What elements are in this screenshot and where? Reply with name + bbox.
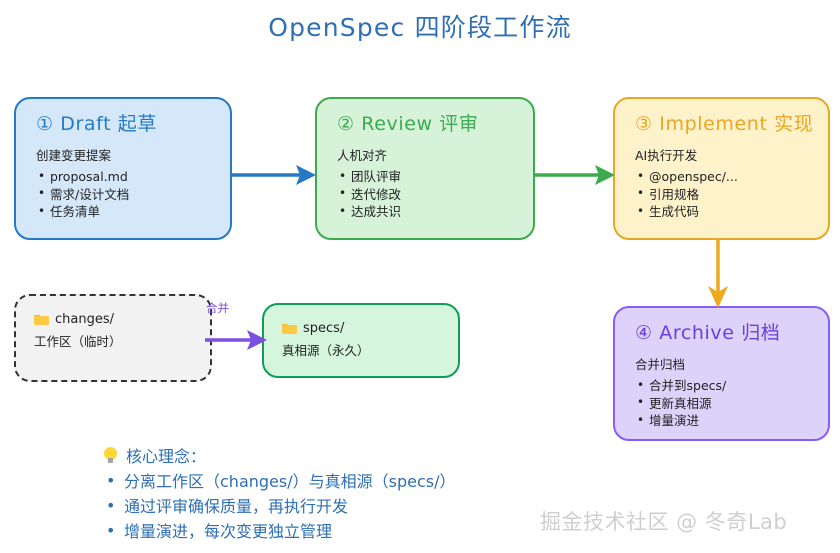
specs-folder-line: specs/ bbox=[282, 321, 458, 336]
list-item: 增量演进 bbox=[635, 412, 828, 430]
list-item: 团队评审 bbox=[337, 168, 533, 186]
list-item: 引用规格 bbox=[635, 186, 828, 204]
folder-icon bbox=[34, 313, 49, 324]
specs-folder-name: specs/ bbox=[303, 321, 344, 336]
folder-box-specs: specs/ 真相源（永久） bbox=[262, 303, 460, 378]
stage-box-draft: ① Draft 起草 创建变更提案 proposal.md 需求/设计文档 任务… bbox=[14, 97, 232, 240]
list-item: 达成共识 bbox=[337, 203, 533, 221]
core-principles-heading: 核心理念： bbox=[104, 443, 624, 467]
stage-box-implement: ③ Implement 实现 AI执行开发 @openspec/... 引用规格… bbox=[613, 97, 830, 240]
arrow-draft-to-review bbox=[232, 160, 316, 190]
arrow-implement-to-archive bbox=[695, 238, 741, 308]
stage-subtitle-archive: 合并归档 bbox=[635, 354, 828, 373]
stage-heading-review: ② Review 评审 bbox=[337, 109, 533, 136]
arrow-changes-to-specs bbox=[205, 325, 267, 355]
list-item: proposal.md bbox=[36, 168, 230, 186]
list-item: 任务清单 bbox=[36, 203, 230, 221]
list-item: 生成代码 bbox=[635, 203, 828, 221]
specs-folder-desc: 真相源（永久） bbox=[282, 340, 458, 359]
list-item: 合并到specs/ bbox=[635, 377, 828, 395]
stage-heading-archive: ④ Archive 归档 bbox=[635, 318, 828, 345]
core-principles-title: 核心理念： bbox=[126, 443, 206, 467]
changes-folder-name: changes/ bbox=[55, 312, 114, 327]
merge-arrow-label: 合并 bbox=[206, 300, 229, 316]
changes-folder-desc: 工作区（临时） bbox=[34, 331, 210, 350]
watermark: 掘金技术社区 @ 冬奇Lab bbox=[540, 506, 787, 536]
diagram-canvas: OpenSpec 四阶段工作流 ① Draft 起草 创建变更提案 propos… bbox=[0, 0, 840, 553]
list-item: 更新真相源 bbox=[635, 395, 828, 413]
stage-subtitle-draft: 创建变更提案 bbox=[36, 145, 230, 164]
stage-box-review: ② Review 评审 人机对齐 团队评审 迭代修改 达成共识 bbox=[315, 97, 535, 240]
folder-icon bbox=[282, 322, 297, 333]
stage-subtitle-review: 人机对齐 bbox=[337, 145, 533, 164]
changes-folder-line: changes/ bbox=[34, 312, 210, 327]
stage-list-archive: 合并到specs/ 更新真相源 增量演进 bbox=[635, 377, 828, 430]
lightbulb-icon bbox=[104, 447, 117, 464]
stage-list-review: 团队评审 迭代修改 达成共识 bbox=[337, 168, 533, 221]
stage-box-archive: ④ Archive 归档 合并归档 合并到specs/ 更新真相源 增量演进 bbox=[613, 306, 830, 441]
arrow-review-to-implement bbox=[535, 160, 615, 190]
stage-heading-implement: ③ Implement 实现 bbox=[635, 109, 828, 136]
list-item: 迭代修改 bbox=[337, 186, 533, 204]
stage-heading-draft: ① Draft 起草 bbox=[36, 109, 230, 136]
stage-list-draft: proposal.md 需求/设计文档 任务清单 bbox=[36, 168, 230, 221]
list-item: 需求/设计文档 bbox=[36, 186, 230, 204]
page-title: OpenSpec 四阶段工作流 bbox=[0, 8, 840, 44]
stage-subtitle-implement: AI执行开发 bbox=[635, 145, 828, 164]
stage-list-implement: @openspec/... 引用规格 生成代码 bbox=[635, 168, 828, 221]
list-item: @openspec/... bbox=[635, 168, 828, 186]
list-item: 分离工作区（changes/）与真相源（specs/） bbox=[104, 469, 624, 494]
folder-box-changes: changes/ 工作区（临时） bbox=[14, 294, 212, 382]
